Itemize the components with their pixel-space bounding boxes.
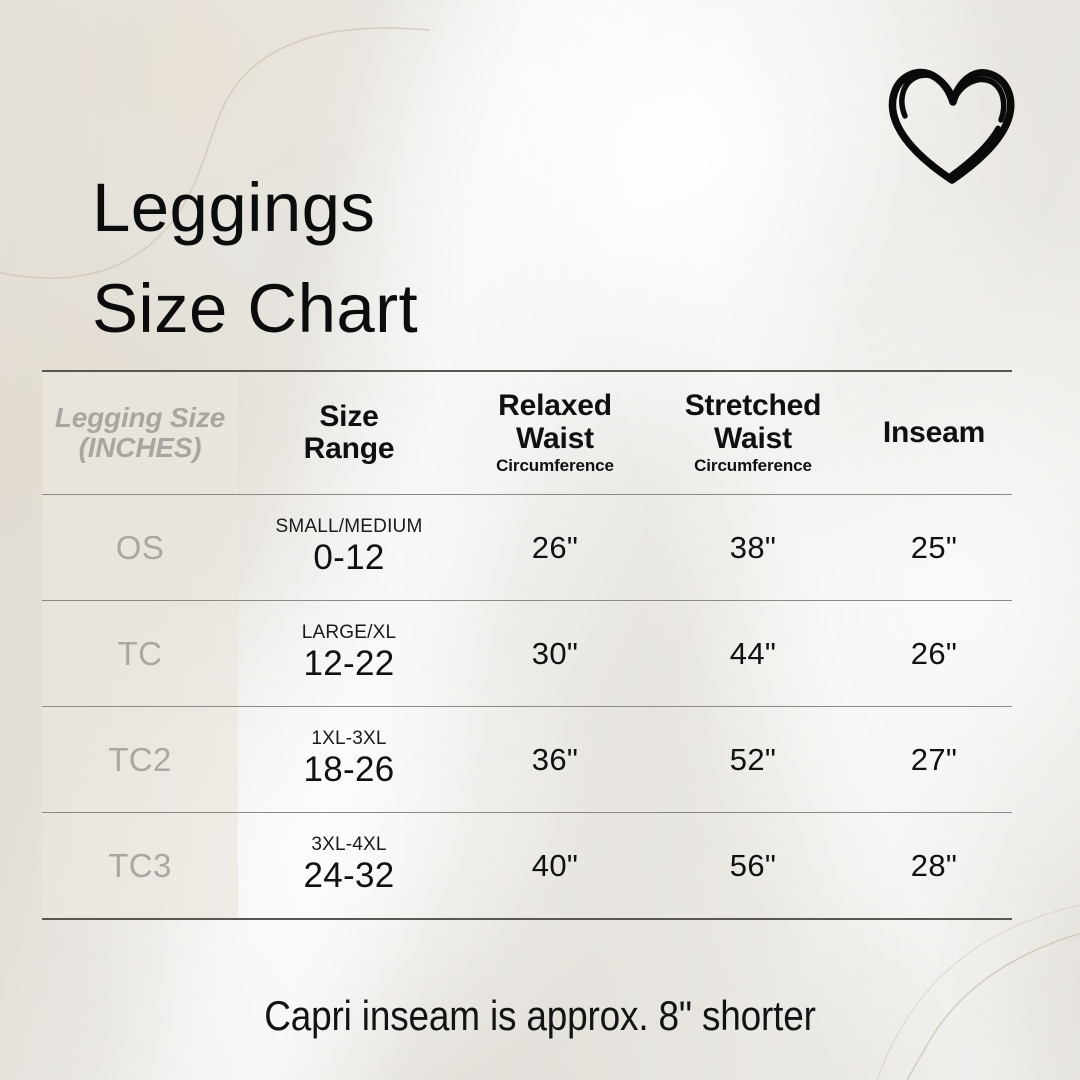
size-chart-table: Legging Size (INCHES) Size Range Relaxed… <box>42 370 1012 920</box>
title-line-1: Leggings <box>92 169 375 246</box>
stretched-waist-value: 52" <box>730 742 776 778</box>
header-inseam: Inseam <box>883 417 985 449</box>
cell-relaxed-waist: 26" <box>460 495 650 600</box>
footer-note: Capri inseam is approx. 8" shorter <box>65 992 1015 1040</box>
range-value: 12-22 <box>303 645 394 684</box>
header-cell-size-range: Size Range <box>238 372 460 494</box>
stretched-waist-value: 44" <box>730 636 776 672</box>
row-tint <box>42 813 238 918</box>
range-label: 3XL-4XL <box>311 835 386 854</box>
cell-size-range: 1XL-3XL 18-26 <box>238 707 460 812</box>
cell-relaxed-waist: 30" <box>460 601 650 706</box>
range-value: 18-26 <box>303 751 394 790</box>
stretched-waist-value: 38" <box>730 530 776 566</box>
header-stretched-sub: Circumference <box>694 456 812 476</box>
header-cell-relaxed-waist: Relaxed Waist Circumference <box>460 372 650 494</box>
header-size-range-line2: Range <box>304 433 395 465</box>
row-tint <box>42 495 238 600</box>
inseam-value: 28" <box>911 848 957 884</box>
header-stretched-line2: Waist <box>714 423 792 455</box>
range-label: 1XL-3XL <box>311 729 386 748</box>
table-row: OS SMALL/MEDIUM 0-12 26" 38" 25" <box>42 495 1012 600</box>
header-cell-inseam: Inseam <box>856 372 1012 494</box>
table-header-row: Legging Size (INCHES) Size Range Relaxed… <box>42 372 1012 494</box>
cell-stretched-waist: 56" <box>650 813 856 918</box>
cell-stretched-waist: 44" <box>650 601 856 706</box>
range-label: LARGE/XL <box>302 623 397 642</box>
inseam-value: 25" <box>911 530 957 566</box>
header-cell-stretched-waist: Stretched Waist Circumference <box>650 372 856 494</box>
range-value: 24-32 <box>303 857 394 896</box>
range-value: 0-12 <box>313 539 384 578</box>
cell-inseam: 28" <box>856 813 1012 918</box>
cell-inseam: 26" <box>856 601 1012 706</box>
title-line-2: Size Chart <box>92 270 418 347</box>
row-tint <box>42 707 238 812</box>
table-row: TC LARGE/XL 12-22 30" 44" 26" <box>42 601 1012 706</box>
range-label: SMALL/MEDIUM <box>275 517 422 536</box>
inseam-value: 27" <box>911 742 957 778</box>
header-relaxed-line2: Waist <box>516 423 594 455</box>
stretched-waist-value: 56" <box>730 848 776 884</box>
inseam-value: 26" <box>911 636 957 672</box>
header-stretched-line1: Stretched <box>685 390 822 422</box>
page-title: Leggings Size Chart <box>92 158 812 359</box>
cell-relaxed-waist: 40" <box>460 813 650 918</box>
cell-inseam: 25" <box>856 495 1012 600</box>
cell-size-range: SMALL/MEDIUM 0-12 <box>238 495 460 600</box>
table-bottom-rule <box>42 918 1012 920</box>
row-tint <box>42 601 238 706</box>
header-relaxed-line1: Relaxed <box>498 390 612 422</box>
relaxed-waist-value: 36" <box>532 742 578 778</box>
cell-stretched-waist: 38" <box>650 495 856 600</box>
header-relaxed-sub: Circumference <box>496 456 614 476</box>
header-size-range-line1: Size <box>319 401 378 433</box>
cell-size-range: 3XL-4XL 24-32 <box>238 813 460 918</box>
cell-relaxed-waist: 36" <box>460 707 650 812</box>
heart-doodle-icon <box>884 58 1020 186</box>
cell-inseam: 27" <box>856 707 1012 812</box>
table-row: TC3 3XL-4XL 24-32 40" 56" 28" <box>42 813 1012 918</box>
table-row: TC2 1XL-3XL 18-26 36" 52" 27" <box>42 707 1012 812</box>
relaxed-waist-value: 30" <box>532 636 578 672</box>
first-column-tint <box>42 372 238 494</box>
relaxed-waist-value: 26" <box>532 530 578 566</box>
relaxed-waist-value: 40" <box>532 848 578 884</box>
cell-stretched-waist: 52" <box>650 707 856 812</box>
cell-size-range: LARGE/XL 12-22 <box>238 601 460 706</box>
